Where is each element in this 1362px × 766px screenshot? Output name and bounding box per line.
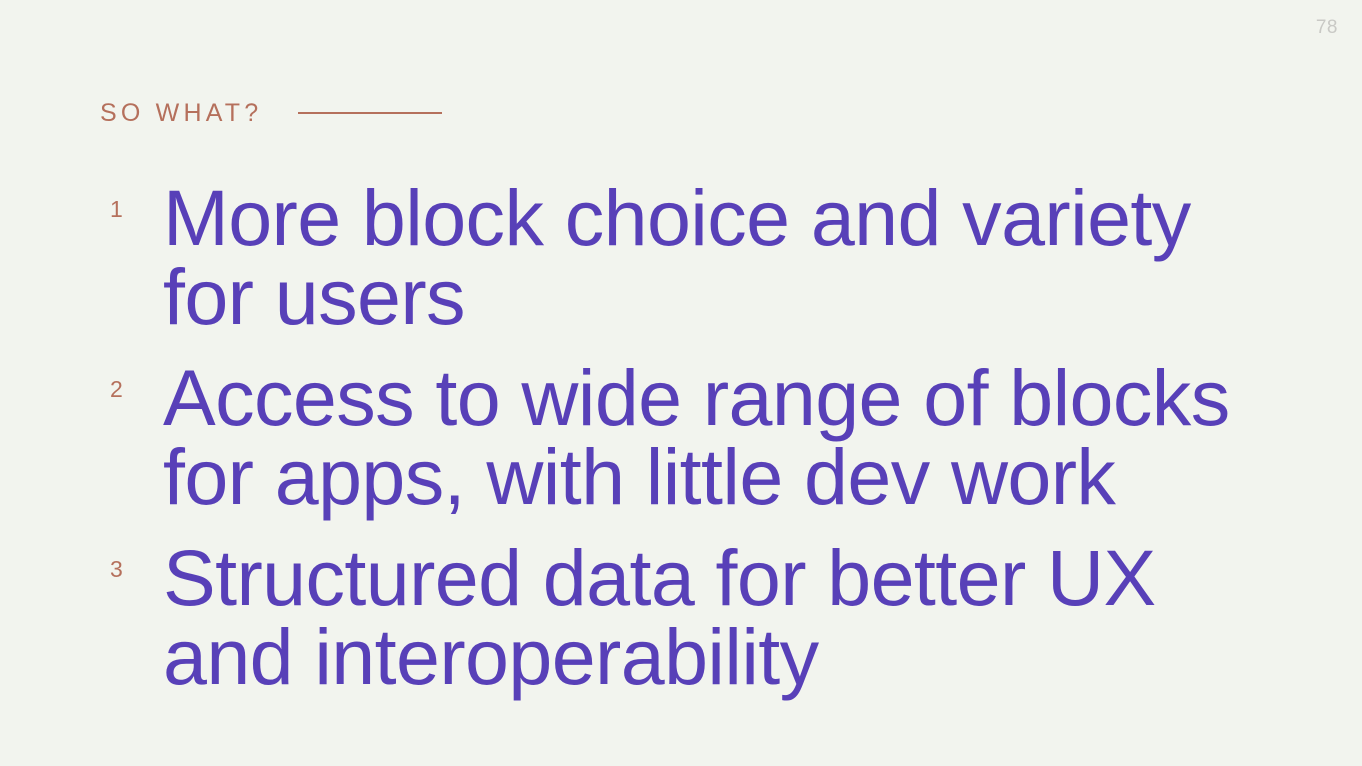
list-item-number: 2 xyxy=(110,378,144,401)
eyebrow: SO WHAT? xyxy=(100,95,442,131)
list-item: 3 Structured data for better UX and inte… xyxy=(100,538,1322,696)
slide: 78 SO WHAT? 1 More block choice and vari… xyxy=(0,0,1362,766)
points-list: 1 More block choice and variety for user… xyxy=(100,178,1322,696)
list-item-number: 3 xyxy=(110,558,144,581)
list-item-number: 1 xyxy=(110,198,144,221)
list-item: 2 Access to wide range of blocks for app… xyxy=(100,358,1322,516)
horizontal-rule-divider xyxy=(298,112,442,114)
eyebrow-label: SO WHAT? xyxy=(100,101,262,126)
list-item: 1 More block choice and variety for user… xyxy=(100,178,1322,336)
page-number: 78 xyxy=(1316,18,1338,37)
list-item-text: Structured data for better UX and intero… xyxy=(163,538,1322,696)
list-item-text: More block choice and variety for users xyxy=(163,178,1322,336)
list-item-text: Access to wide range of blocks for apps,… xyxy=(163,358,1322,516)
